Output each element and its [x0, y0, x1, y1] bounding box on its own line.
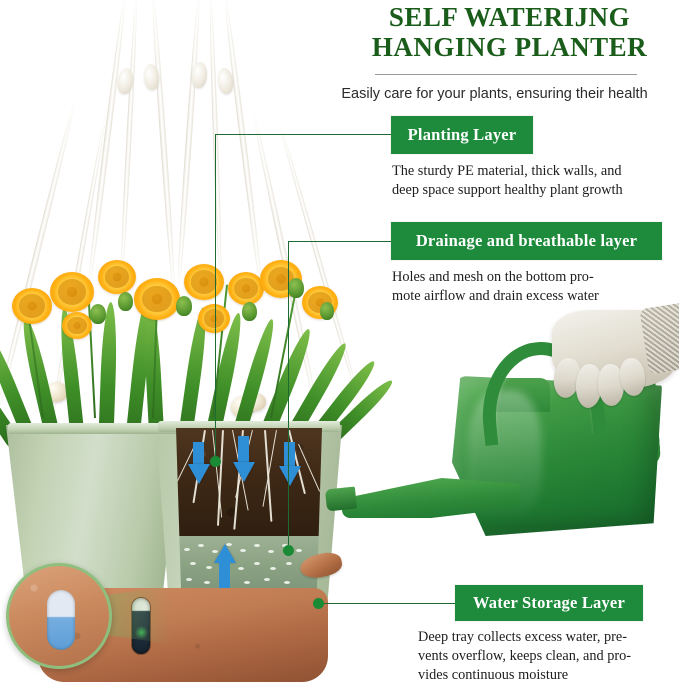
hanger-cord [175, 0, 202, 293]
flower [62, 312, 92, 339]
flower-bud [320, 302, 334, 320]
flower [134, 278, 180, 320]
title-line-2: HANGING PLANTER [340, 32, 679, 62]
leader-line-drainage-vertical [288, 241, 289, 551]
mesh-hole [254, 544, 260, 547]
leader-line-storage-horizontal [318, 603, 456, 604]
mesh-hole [240, 549, 246, 552]
water-flow-arrow [188, 464, 210, 484]
flower-bud [118, 292, 133, 311]
leader-line-planting-vertical [215, 134, 216, 462]
title-divider [375, 74, 637, 75]
callout-box-water-storage-layer: Water Storage Layer [455, 585, 643, 621]
mesh-hole [244, 581, 250, 584]
water-flow-arrow [193, 442, 204, 464]
water-level-magnifier-inset [6, 563, 112, 669]
hanger-cord [150, 0, 177, 299]
flower-bud [288, 278, 304, 298]
mesh-hole [268, 550, 274, 553]
callout-box-drainage-layer: Drainage and breathable layer [391, 222, 662, 260]
watering-can-spout-tip [325, 486, 357, 511]
macrame-knot [191, 61, 208, 88]
title-line-1: SELF WATERIJNG [340, 2, 679, 32]
flower-bud [242, 302, 257, 321]
mesh-hole [190, 562, 196, 565]
page-title: SELF WATERIJNG HANGING PLANTER [340, 2, 679, 62]
callout-description-water-storage-layer: Deep tray collects excess water, pre- ve… [418, 628, 676, 682]
mesh-hole [270, 567, 276, 570]
callout-label-water-storage-layer: Water Storage Layer [473, 593, 625, 613]
leader-dot-drainage [283, 545, 294, 556]
planter-rim [8, 423, 180, 434]
water-wick-arrow [214, 544, 236, 563]
page-subtitle: Easily care for your plants, ensuring th… [310, 84, 679, 104]
flower-bud [176, 296, 192, 316]
callout-label-drainage-layer: Drainage and breathable layer [416, 231, 637, 251]
water-flow-arrow [233, 462, 255, 482]
water-level-gauge-closeup [47, 590, 75, 650]
infographic-page: SELF WATERIJNG HANGING PLANTER Easily ca… [0, 0, 679, 682]
mesh-hole [206, 566, 212, 569]
mesh-hole [254, 562, 260, 565]
mesh-hole [184, 548, 190, 551]
callout-box-planting-layer: Planting Layer [391, 116, 533, 154]
hanger-cord [119, 0, 139, 284]
water-flow-arrow [238, 436, 249, 462]
callout-label-planting-layer: Planting Layer [408, 125, 517, 145]
leader-line-planting-horizontal [215, 134, 392, 135]
flower-bud [90, 304, 106, 324]
mesh-hole [198, 544, 204, 547]
water-flow-arrow [284, 442, 295, 466]
mesh-hole [296, 549, 302, 552]
flower [12, 288, 52, 324]
mesh-hole [264, 578, 270, 581]
callout-description-drainage-layer: Holes and mesh on the bottom pro- mote a… [392, 268, 677, 306]
flower [50, 272, 94, 312]
flower [98, 260, 136, 294]
mesh-hole [238, 567, 244, 570]
watering-can-photo [340, 290, 679, 580]
water-flow-arrow [279, 466, 301, 486]
callout-description-planting-layer: The sturdy PE material, thick walls, and… [392, 162, 677, 200]
flower [184, 264, 224, 300]
flower [228, 272, 264, 305]
mesh-hole [186, 578, 192, 581]
gardening-glove [518, 310, 679, 418]
mesh-hole [286, 562, 292, 565]
leader-line-drainage-horizontal [288, 241, 392, 242]
mesh-hole [204, 581, 210, 584]
flower [198, 304, 230, 333]
mesh-hole [284, 581, 290, 584]
leader-dot-storage [313, 598, 324, 609]
leader-dot-planting [210, 456, 221, 467]
